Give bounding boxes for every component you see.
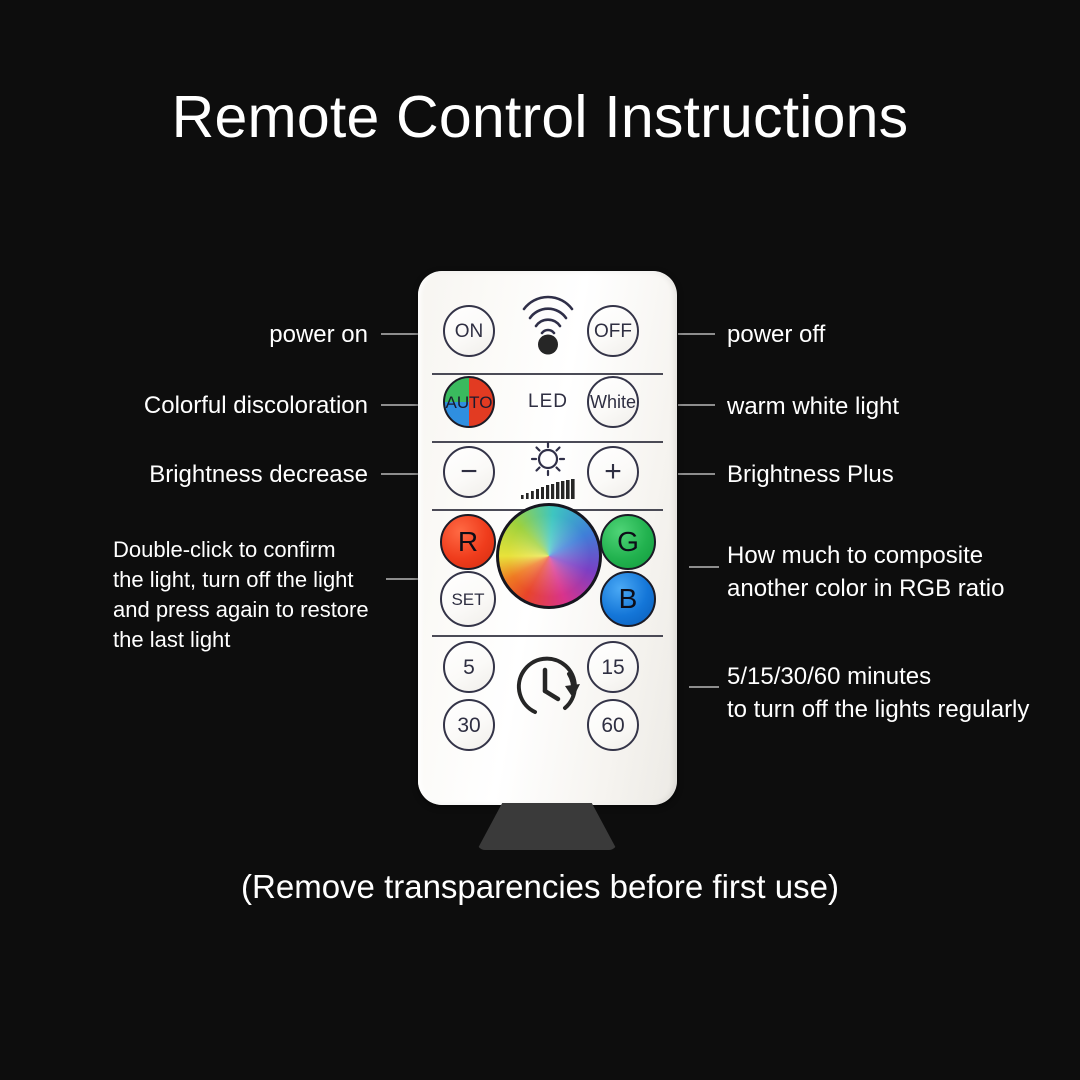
timer-15-button[interactable]: 15 [587, 641, 639, 693]
instruction-diagram: Remote Control Instructions power on Col… [0, 0, 1080, 1080]
leader-power-on [381, 333, 418, 335]
timer-30-button[interactable]: 30 [443, 699, 495, 751]
leader-timer [689, 686, 719, 688]
ir-signal-icon [517, 287, 579, 355]
footer-note: (Remove transparencies before first use) [0, 868, 1080, 906]
red-button[interactable]: R [440, 514, 496, 570]
leader-brightness-up [678, 473, 715, 475]
callout-timer: 5/15/30/60 minutes to turn off the light… [727, 661, 1077, 726]
timer-60-button[interactable]: 60 [587, 699, 639, 751]
color-wheel-icon[interactable] [496, 503, 602, 609]
brightness-sun-icon [511, 441, 585, 503]
callout-brightness-up: Brightness Plus [727, 459, 1067, 490]
callout-brightness-down: Brightness decrease [0, 459, 368, 490]
callout-power-off: power off [727, 319, 1067, 350]
auto-button[interactable]: AUTO [443, 376, 495, 428]
on-button[interactable]: ON [443, 305, 495, 357]
led-label: LED [506, 391, 590, 413]
leader-auto [381, 404, 418, 406]
timer-5-button[interactable]: 5 [443, 641, 495, 693]
white-button[interactable]: White [587, 376, 639, 428]
brightness-plus-button[interactable]: + [587, 446, 639, 498]
leader-rgb [689, 566, 719, 568]
callout-white: warm white light [727, 391, 1067, 422]
leader-power-off [678, 333, 715, 335]
brightness-minus-button[interactable]: − [443, 446, 495, 498]
clock-timer-icon [507, 646, 589, 728]
green-button[interactable]: G [600, 514, 656, 570]
callout-rgb: How much to composite another color in R… [727, 540, 1067, 605]
leader-brightness-down [381, 473, 418, 475]
remote-control-body: ON OFF AUTO LED White − [418, 271, 677, 805]
remote-stand [477, 803, 617, 850]
page-title: Remote Control Instructions [0, 83, 1080, 151]
blue-button[interactable]: B [600, 571, 656, 627]
callout-auto: Colorful discoloration [0, 390, 368, 421]
off-button[interactable]: OFF [587, 305, 639, 357]
leader-white [678, 404, 715, 406]
callout-set: Double-click to confirm the light, turn … [113, 535, 385, 656]
divider-1 [432, 373, 663, 375]
divider-4 [432, 635, 663, 637]
set-button[interactable]: SET [440, 571, 496, 627]
leader-set [386, 578, 418, 580]
callout-power-on: power on [0, 319, 368, 350]
